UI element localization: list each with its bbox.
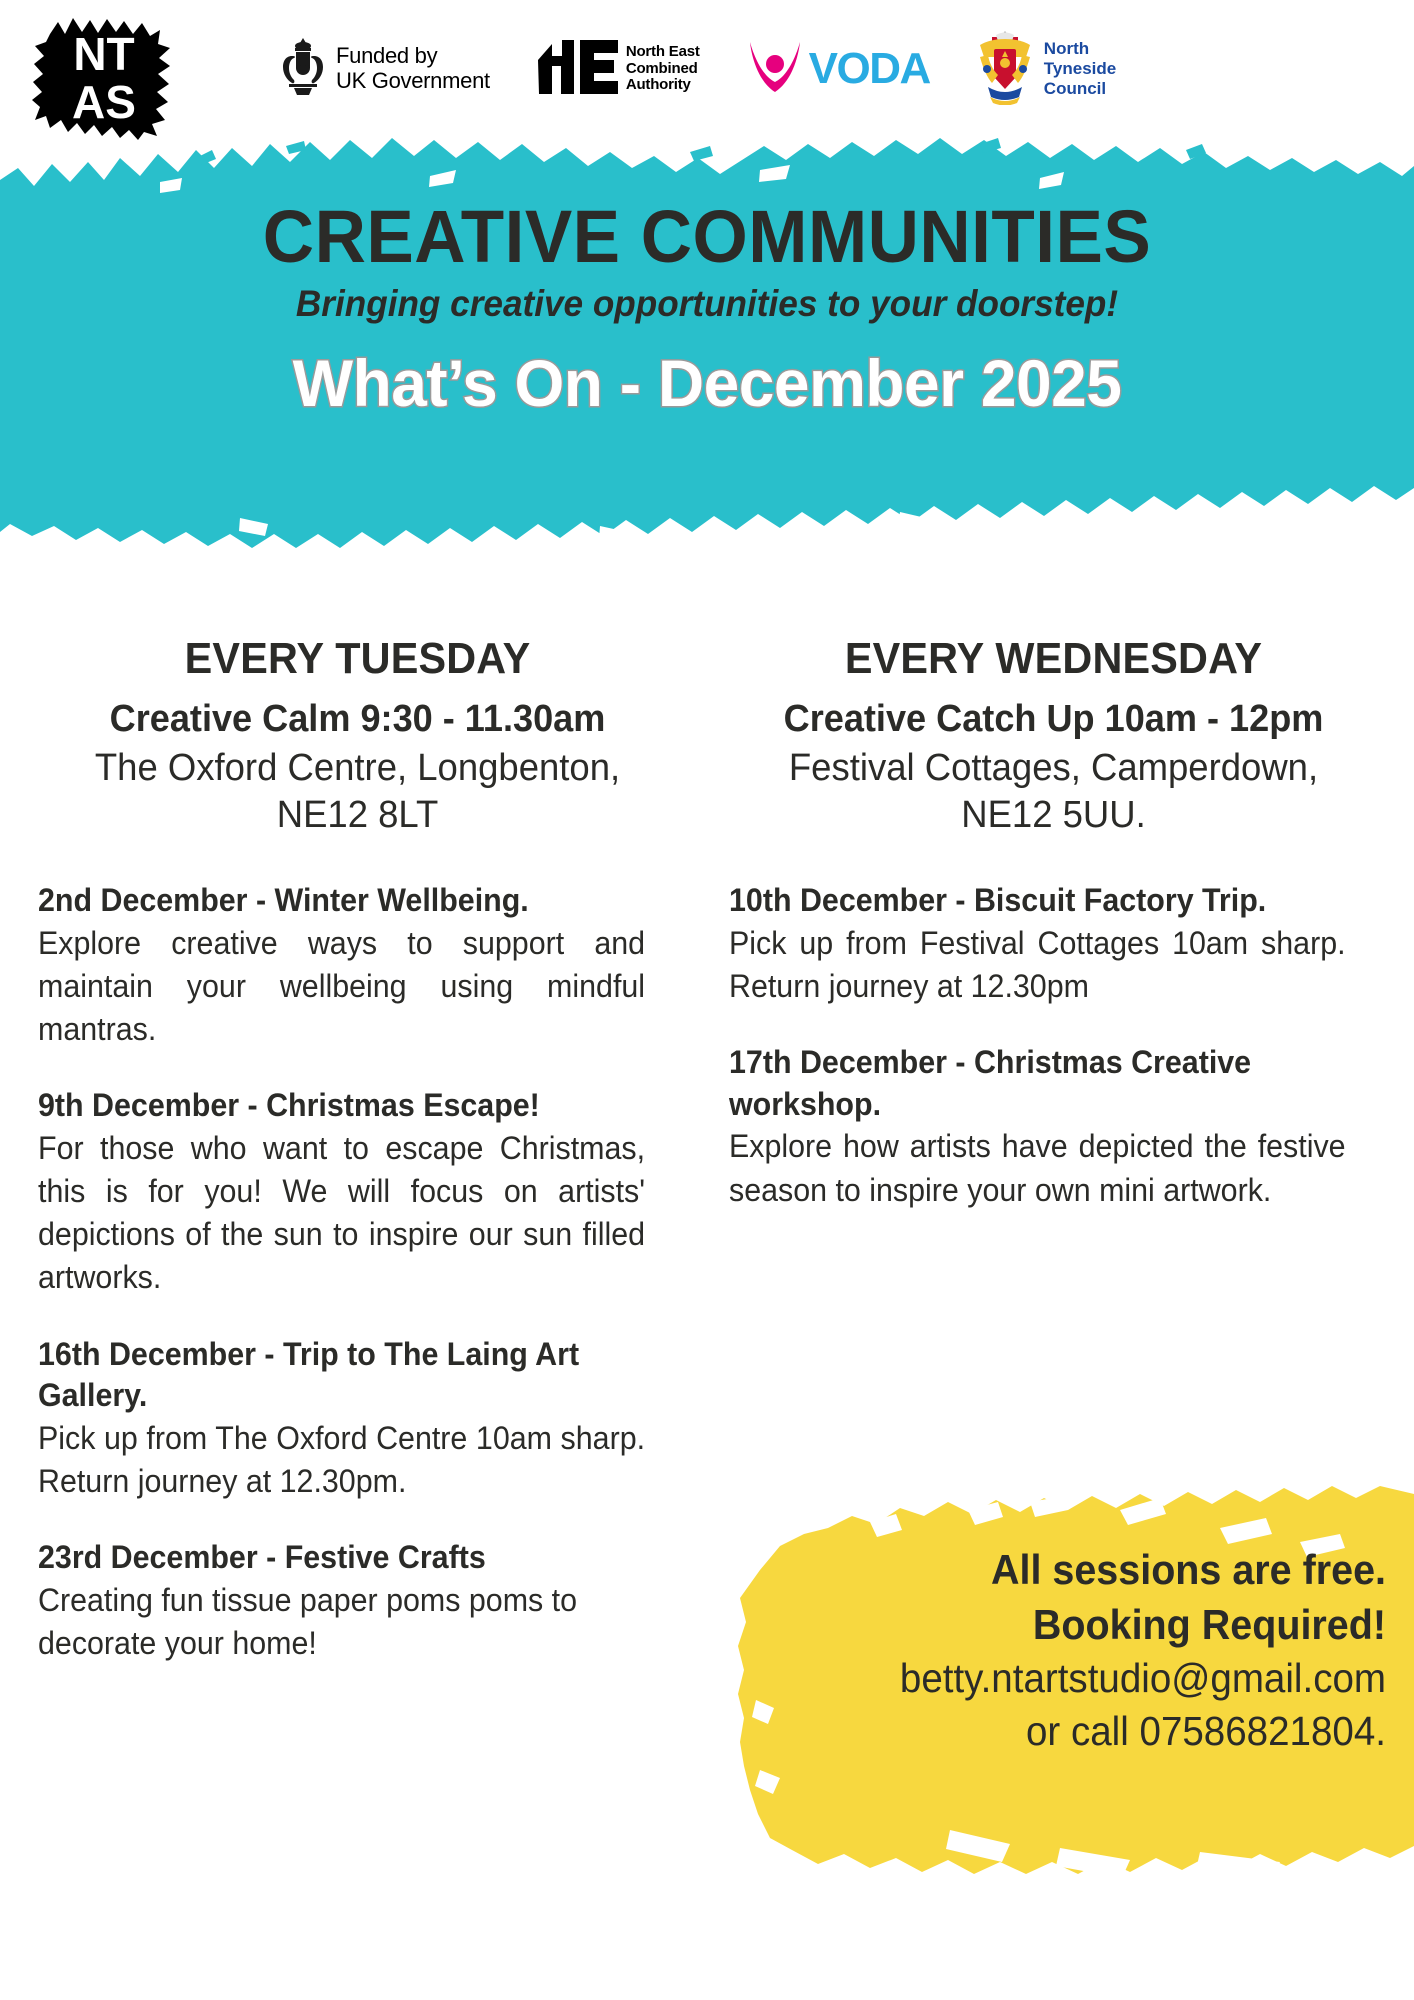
teal-banner: CREATIVE COMMUNITIES Bringing creative o… xyxy=(0,128,1414,548)
event-heading: 23rd December - Festive Crafts xyxy=(38,1537,645,1579)
page-tagline: Bringing creative opportunities to your … xyxy=(35,285,1378,322)
event-heading: 2nd December - Winter Wellbeing. xyxy=(38,880,645,922)
voda-wordmark: VODA xyxy=(809,47,930,91)
neca-label: North East Combined Authority xyxy=(626,44,700,95)
page-title: CREATIVE COMMUNITIES xyxy=(28,200,1385,274)
column-wednesday: EVERY WEDNESDAY Creative Catch Up 10am -… xyxy=(707,636,1414,1665)
event-heading: 10th December - Biscuit Factory Trip. xyxy=(729,880,1346,922)
event-item: 16th December - Trip to The Laing Art Ga… xyxy=(38,1334,677,1504)
funder-logos: Funded by UK Government North East Combi… xyxy=(280,30,1390,108)
schedule-columns: EVERY TUESDAY Creative Calm 9:30 - 11.30… xyxy=(0,636,1414,1665)
ntas-logo-line-2: AS xyxy=(72,76,136,128)
venue-tuesday: The Oxford Centre, Longbenton, NE12 8LT xyxy=(51,745,664,838)
day-heading-wednesday: EVERY WEDNESDAY xyxy=(748,636,1358,683)
neca-arrow-n-icon xyxy=(534,36,622,103)
event-body: Creating fun tissue paper poms poms to d… xyxy=(38,1579,645,1665)
venue-wednesday: Festival Cottages, Camperdown, NE12 5UU. xyxy=(742,745,1365,838)
ntas-logo: NT AS xyxy=(32,12,177,140)
poster-root: NT AS xyxy=(0,0,1414,2000)
event-body: For those who want to escape Christmas, … xyxy=(38,1127,645,1300)
event-item: 9th December - Christmas Escape! For tho… xyxy=(38,1085,677,1299)
funder-voda: VODA xyxy=(744,36,930,103)
uk-government-label: Funded by UK Government xyxy=(336,44,490,93)
funder-north-east-combined-authority: North East Combined Authority xyxy=(534,36,700,103)
whats-on-heading: What’s On - December 2025 xyxy=(21,350,1393,416)
event-body: Pick up from Festival Cottages 10am shar… xyxy=(729,922,1346,1008)
event-heading: 9th December - Christmas Escape! xyxy=(38,1085,645,1127)
funder-north-tyneside-council: North Tyneside Council xyxy=(974,29,1116,110)
booking-phone[interactable]: or call 07586821804. xyxy=(758,1705,1386,1758)
event-item: 17th December - Christmas Creative works… xyxy=(729,1042,1378,1212)
banner-text-block: CREATIVE COMMUNITIES Bringing creative o… xyxy=(0,128,1414,548)
voda-person-icon xyxy=(744,36,806,103)
north-tyneside-council-label: North Tyneside Council xyxy=(1044,39,1116,99)
logo-bar: NT AS xyxy=(0,0,1414,150)
column-tuesday: EVERY TUESDAY Creative Calm 9:30 - 11.30… xyxy=(0,636,707,1665)
funder-uk-government: Funded by UK Government xyxy=(280,36,490,103)
event-body: Pick up from The Oxford Centre 10am shar… xyxy=(38,1417,645,1503)
event-body: Explore creative ways to support and mai… xyxy=(38,922,645,1052)
ntas-logo-line-1: NT xyxy=(73,28,134,80)
event-item: 2nd December - Winter Wellbeing. Explore… xyxy=(38,880,677,1051)
event-heading: 17th December - Christmas Creative works… xyxy=(729,1042,1346,1125)
event-heading: 16th December - Trip to The Laing Art Ga… xyxy=(38,1334,645,1417)
royal-crest-icon xyxy=(280,36,326,103)
session-title-tuesday: Creative Calm 9:30 - 11.30am xyxy=(54,697,661,742)
event-item: 23rd December - Festive Crafts Creating … xyxy=(38,1537,677,1665)
session-title-wednesday: Creative Catch Up 10am - 12pm xyxy=(745,697,1362,742)
event-body: Explore how artists have depicted the fe… xyxy=(729,1125,1346,1211)
event-item: 10th December - Biscuit Factory Trip. Pi… xyxy=(729,880,1378,1008)
day-heading-tuesday: EVERY TUESDAY xyxy=(57,636,658,683)
council-crest-icon xyxy=(974,29,1036,110)
